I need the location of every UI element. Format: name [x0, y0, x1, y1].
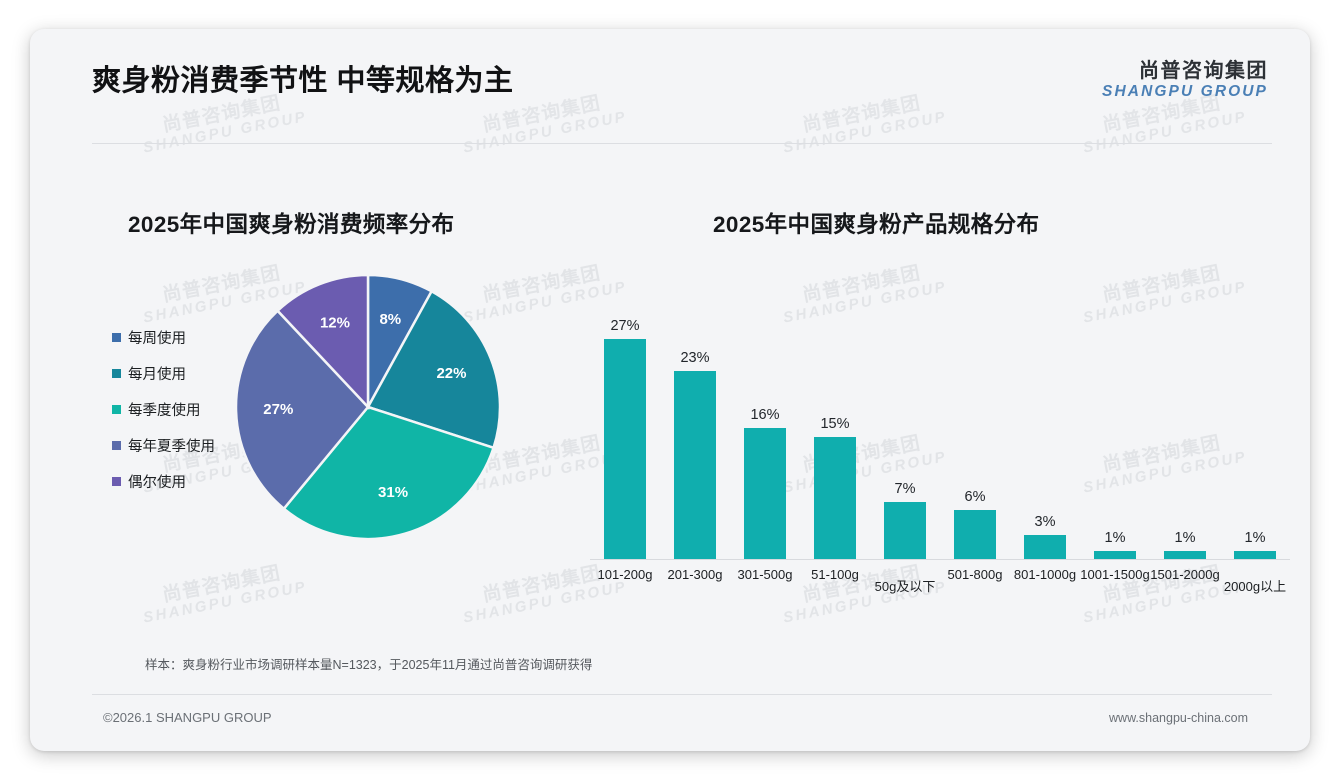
bar-category-label: 2000g以上 [1220, 567, 1290, 595]
pie-slice-label: 12% [320, 315, 350, 332]
bar-value-label: 1% [1245, 530, 1266, 546]
bar-rect[interactable] [884, 502, 926, 559]
bar-category-label: 101-200g [590, 567, 660, 595]
pie-slice-label: 8% [379, 311, 401, 328]
bar-column[interactable]: 15% [800, 259, 870, 559]
footer-divider [92, 694, 1272, 695]
charts-area: 2025年中国爽身粉消费频率分布 2025年中国爽身粉产品规格分布 每周使用 每… [30, 169, 1310, 679]
pie-chart: 每周使用 每月使用 每季度使用 每年夏季使用 偶尔使用 [70, 259, 540, 639]
bar-category-label: 1001-1500g [1080, 567, 1150, 595]
slide-canvas: 尚普咨询集团SHANGPU GROUP 尚普咨询集团SHANGPU GROUP … [30, 29, 1310, 751]
legend-label: 每年夏季使用 [128, 435, 215, 456]
bar-rect[interactable] [674, 371, 716, 559]
sample-note: 样本：爽身粉行业市场调研样本量N=1323，于2025年11月通过尚普咨询调研获… [145, 654, 592, 673]
legend-label: 每周使用 [128, 327, 186, 348]
x-axis-line [590, 559, 1290, 560]
bar-column[interactable]: 3% [1010, 259, 1080, 559]
bar-value-label: 16% [750, 407, 779, 423]
legend-swatch-icon [112, 441, 121, 450]
bar-category-label: 51-100g [800, 567, 870, 595]
bar-column[interactable]: 1% [1080, 259, 1150, 559]
bar-value-label: 1% [1105, 530, 1126, 546]
bar-rect[interactable] [814, 437, 856, 560]
brand-logo: 尚普咨询集团 SHANGPU GROUP [1102, 60, 1268, 102]
legend-swatch-icon [112, 369, 121, 378]
website-url[interactable]: www.shangpu-china.com [1109, 711, 1248, 725]
bar-column[interactable]: 23% [660, 259, 730, 559]
bar-column[interactable]: 27% [590, 259, 660, 559]
bar-column[interactable]: 6% [940, 259, 1010, 559]
bar-value-label: 3% [1035, 514, 1056, 530]
bar-rect[interactable] [1094, 551, 1136, 559]
page-title: 爽身粉消费季节性 中等规格为主 [92, 57, 514, 99]
legend-label: 偶尔使用 [128, 471, 186, 492]
legend-label: 每季度使用 [128, 399, 201, 420]
logo-chinese-text: 尚普咨询集团 [1102, 60, 1268, 83]
bar-value-label: 7% [895, 481, 916, 497]
bar-column[interactable]: 1% [1220, 259, 1290, 559]
bar-category-label: 201-300g [660, 567, 730, 595]
bar-category-label: 1501-2000g [1150, 567, 1220, 595]
bar-column[interactable]: 16% [730, 259, 800, 559]
bar-columns: 27%23%16%15%7%6%3%1%1%1% [590, 259, 1290, 559]
bar-rect[interactable] [1164, 551, 1206, 559]
pie-slice-label: 27% [263, 401, 293, 418]
bar-category-label: 50g及以下 [870, 567, 940, 595]
logo-english-text: SHANGPU GROUP [1102, 83, 1268, 102]
x-axis-categories: 101-200g201-300g301-500g51-100g50g及以下501… [590, 567, 1290, 595]
bar-rect[interactable] [604, 339, 646, 560]
bar-rect[interactable] [1024, 535, 1066, 560]
pie-slice-label: 22% [436, 365, 466, 382]
bar-column[interactable]: 7% [870, 259, 940, 559]
bar-value-label: 6% [965, 489, 986, 505]
bar-value-label: 27% [610, 318, 639, 334]
bar-column[interactable]: 1% [1150, 259, 1220, 559]
pie-chart-title: 2025年中国爽身粉消费频率分布 [128, 207, 454, 239]
bar-category-label: 501-800g [940, 567, 1010, 595]
copyright-text: ©2026.1 SHANGPU GROUP [103, 710, 272, 725]
bar-rect[interactable] [954, 510, 996, 559]
header-divider [92, 143, 1272, 144]
legend-label: 每月使用 [128, 363, 186, 384]
bar-value-label: 15% [820, 416, 849, 432]
pie-slice-label: 31% [378, 484, 408, 501]
bar-category-label: 801-1000g [1010, 567, 1080, 595]
bar-category-label: 301-500g [730, 567, 800, 595]
bar-rect[interactable] [744, 428, 786, 559]
bar-chart-title: 2025年中国爽身粉产品规格分布 [713, 207, 1039, 239]
pie-graphic: 8%22%31%27%12% [228, 267, 508, 547]
slide-header: 爽身粉消费季节性 中等规格为主 尚普咨询集团 SHANGPU GROUP [30, 29, 1310, 119]
bar-chart: 27%23%16%15%7%6%3%1%1%1% 101-200g201-300… [590, 259, 1290, 649]
legend-swatch-icon [112, 405, 121, 414]
bar-rect[interactable] [1234, 551, 1276, 559]
bar-value-label: 23% [680, 350, 709, 366]
legend-swatch-icon [112, 333, 121, 342]
bar-value-label: 1% [1175, 530, 1196, 546]
legend-swatch-icon [112, 477, 121, 486]
